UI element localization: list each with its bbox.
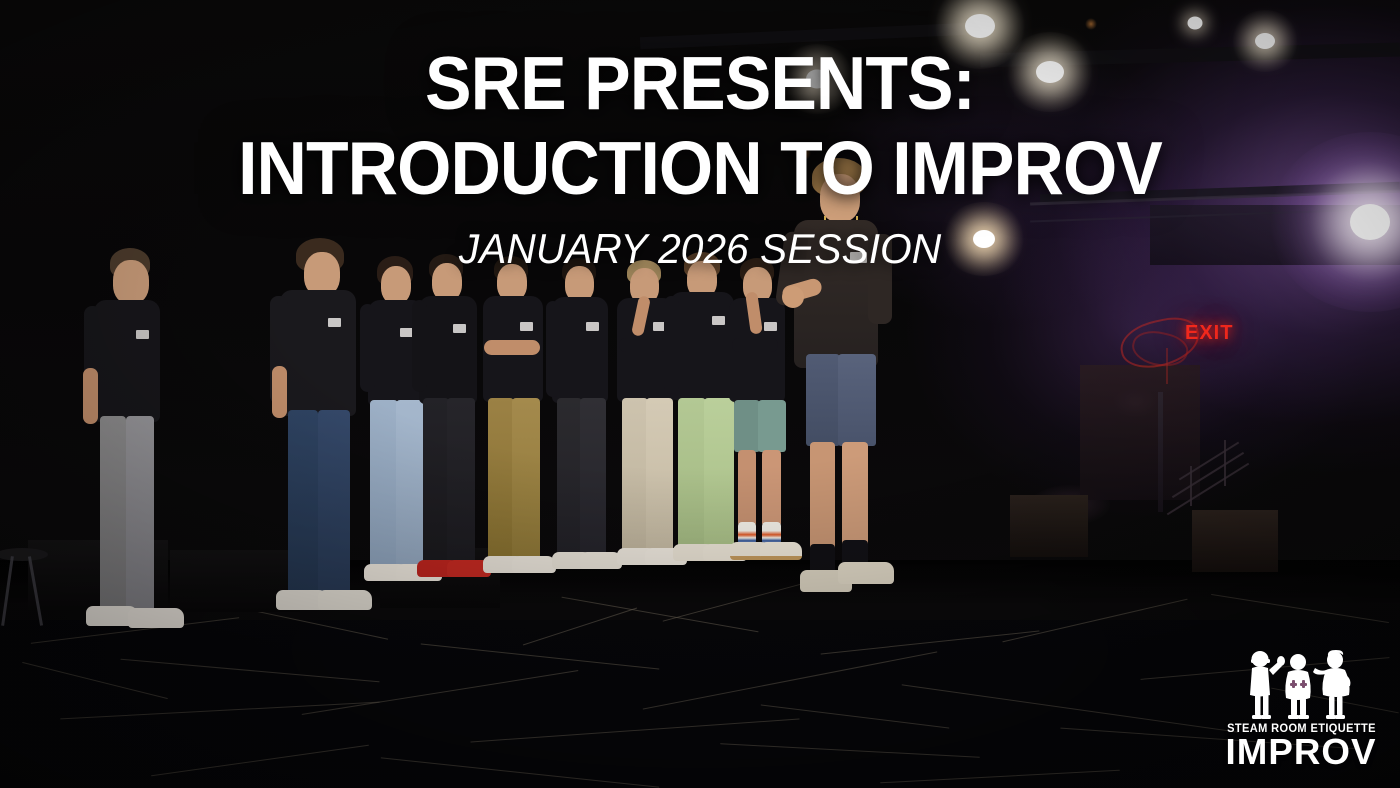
- page-subtitle: JANUARY 2026 SESSION: [21, 225, 1379, 273]
- logo-wordmark: IMPROV: [1226, 734, 1377, 770]
- sre-improv-logo: STEAM ROOM ETIQUETTE IMPROV: [1226, 646, 1376, 770]
- page-title-line-2: INTRODUCTION TO IMPROV: [49, 133, 1351, 204]
- three-figures-icon: [1240, 650, 1362, 722]
- poster-text-overlay: SRE PRESENTS: INTRODUCTION TO IMPROV JAN…: [0, 0, 1400, 788]
- event-poster: EXIT: [0, 0, 1400, 788]
- page-title-line-1: SRE PRESENTS:: [49, 48, 1351, 119]
- title-block: SRE PRESENTS: INTRODUCTION TO IMPROV JAN…: [0, 48, 1400, 273]
